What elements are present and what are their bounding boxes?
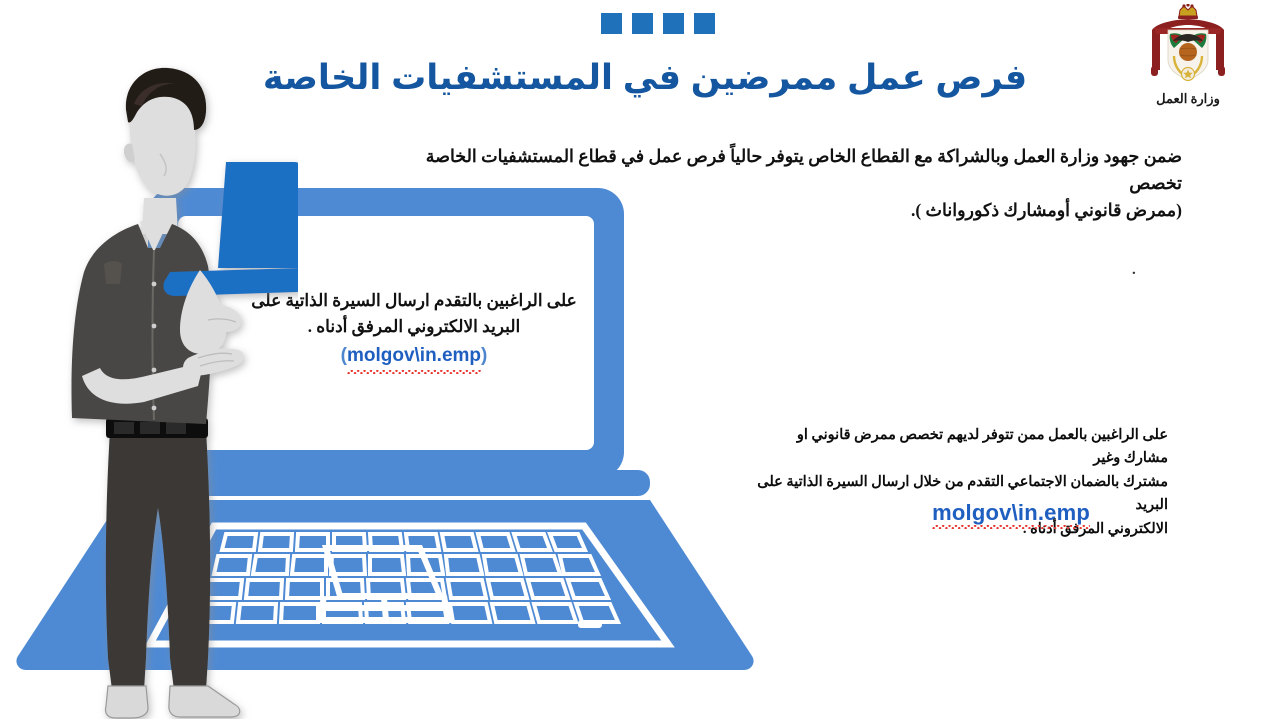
decorative-square (601, 13, 622, 34)
decorative-square (632, 13, 653, 34)
stray-period: . (1132, 262, 1136, 279)
decorative-squares (601, 13, 715, 34)
page-title: فرص عمل ممرضين في المستشفيات الخاصة (230, 56, 1060, 100)
screen-email-link[interactable]: molgov\in.emp (347, 342, 481, 371)
laptop-indicator-led (578, 620, 602, 628)
man-holding-laptop-svg (48, 58, 298, 719)
decorative-square (694, 13, 715, 34)
right-note-line-1: على الراغبين بالعمل ممن تتوفر لديهم تخصص… (750, 424, 1168, 471)
trousers (106, 430, 210, 690)
held-laptop-base (164, 268, 299, 296)
poster-canvas: فرص عمل ممرضين في المستشفيات الخاصة (0, 0, 1280, 719)
held-laptop-lid (218, 162, 298, 268)
shoe-right (169, 686, 240, 717)
person-illustration (48, 58, 298, 724)
jordan-coat-of-arms-icon (1140, 4, 1236, 90)
close-paren: ) (481, 345, 487, 366)
ministry-name-label: وزارة العمل (1128, 91, 1248, 107)
right-note-email-row: molgov\in.emp (932, 500, 1090, 526)
shoe-left (105, 686, 148, 718)
decorative-square (663, 13, 684, 34)
right-note-email-link[interactable]: molgov\in.emp (932, 500, 1090, 526)
ministry-emblem-block: وزارة العمل (1128, 4, 1248, 107)
